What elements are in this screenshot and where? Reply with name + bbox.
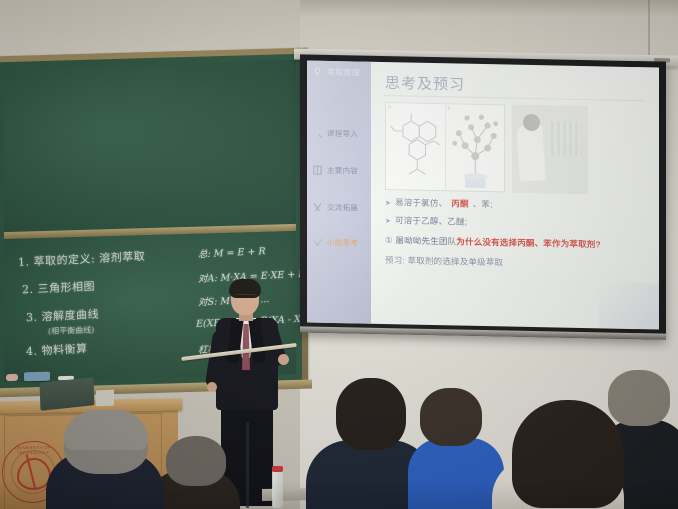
lab-coat — [516, 124, 546, 181]
molecule-3d-model: b — [445, 104, 505, 191]
figure-tag-b: b — [448, 105, 451, 111]
test-tube-rack — [548, 121, 582, 156]
magnifier-icon — [312, 128, 323, 139]
chalk-eq-1: 总: M = E + R — [198, 243, 266, 260]
bottle-cap — [272, 466, 283, 472]
slide-bullet: ➤ 可溶于乙醇、乙醚; — [385, 214, 649, 231]
glasses-icon — [235, 294, 257, 301]
attendee-gray-hair-right-head — [608, 370, 670, 426]
chalk-note-3b: (相平衡曲线) — [48, 325, 94, 337]
foreground-shadow — [0, 479, 678, 509]
sidebar-item-summary-label: 小结思考 — [327, 237, 358, 249]
laptop[interactable] — [40, 377, 95, 411]
slide-sidebar: 萃取原理 课程导入 主要内容 — [307, 60, 371, 323]
emblem-text: UNIVERSITY OF TECHNOLOGY — [3, 444, 63, 455]
bullet-emphasis: 丙酮 — [451, 197, 468, 209]
scientist-head — [523, 114, 540, 131]
title-divider — [383, 95, 645, 101]
chalk-note-4: 4. 物料衡算 — [26, 340, 88, 359]
molecule-figure: a — [385, 102, 505, 192]
chalk-note-1: 1. 萃取的定义: 溶剂萃取 — [18, 248, 146, 270]
question-lead: 屠呦呦先生团队 — [395, 235, 456, 246]
slide-preview-line: 预习: 萃取剂的选择及单级萃取 — [385, 254, 649, 271]
photo-background — [512, 105, 588, 195]
sidebar-item-brand[interactable]: 萃取原理 — [312, 67, 360, 79]
structure-svg — [386, 103, 445, 190]
question-number: ① — [385, 235, 393, 245]
molecule-structure-diagram: a — [386, 103, 445, 190]
sidebar-item-summary[interactable]: 小结思考 — [312, 237, 358, 249]
pin-icon — [312, 67, 323, 78]
people-icon — [312, 202, 323, 213]
chalk-note-2: 2. 三角形相图 — [22, 278, 95, 298]
sidebar-item-main[interactable]: 主要内容 — [312, 165, 358, 177]
slide-bullet: ➤ 易溶于氯仿、丙酮、苯; — [385, 196, 649, 213]
attendee-blue-jacket-head — [420, 388, 482, 446]
bullet-lead: 可溶于乙醇、乙醚; — [395, 214, 467, 227]
sidebar-item-intro-label: 课程导入 — [327, 128, 358, 140]
slide-media-row: a — [385, 102, 647, 195]
attendee-gray-hair-left-hair — [64, 410, 148, 450]
slide-question: ① 屠呦呦先生团队为什么没有选择丙酮、苯作为萃取剂? — [385, 234, 649, 251]
ball-stick-svg — [446, 104, 505, 191]
bullet-arrow-icon: ➤ — [385, 199, 391, 207]
bullet-tail: 、苯; — [473, 198, 493, 210]
presentation-slide[interactable]: 萃取原理 课程导入 主要内容 — [307, 60, 659, 329]
slide-title: 思考及预习 — [385, 72, 465, 95]
chalk-note-3: 3. 溶解度曲线 — [26, 306, 99, 326]
question-emphasis: 为什么没有选择丙酮、苯作为萃取剂? — [456, 236, 601, 249]
sidebar-item-exchange[interactable]: 交流拓展 — [312, 202, 358, 214]
lecture-hall-photo: 1. 萃取的定义: 溶剂萃取 2. 三角形相图 3. 溶解度曲线 (相平衡曲线)… — [0, 0, 678, 509]
ceiling-shadow — [300, 0, 678, 16]
monitor[interactable] — [96, 390, 114, 407]
figure-tag-a: a — [388, 104, 391, 110]
slide-body: ➤ 易溶于氯仿、丙酮、苯; ➤ 可溶于乙醇、乙醚; ① 屠呦呦先生团队为什么没有… — [385, 196, 649, 271]
sidebar-item-exchange-label: 交流拓展 — [327, 202, 358, 214]
lecturer-hand-right — [278, 354, 289, 365]
book-icon — [312, 165, 323, 176]
slide-corner-decoration — [599, 282, 659, 329]
blackboard-eraser[interactable] — [24, 372, 50, 382]
projection-screen[interactable]: 萃取原理 课程导入 主要内容 — [300, 54, 666, 339]
lecturer-hand-left — [207, 382, 217, 392]
historical-lab-photo — [512, 105, 588, 195]
bullet-arrow-icon: ➤ — [385, 217, 391, 225]
chalkboard-upper-panel — [4, 60, 296, 232]
sidebar-brand-label: 萃取原理 — [327, 67, 360, 79]
sidebar-item-main-label: 主要内容 — [327, 165, 358, 177]
bullet-lead: 易溶于氯仿、 — [395, 196, 447, 209]
attendee-suit-center-head — [336, 378, 406, 450]
pink-chalk[interactable] — [6, 374, 18, 381]
check-icon — [312, 237, 323, 248]
sidebar-item-intro[interactable]: 课程导入 — [312, 128, 358, 140]
